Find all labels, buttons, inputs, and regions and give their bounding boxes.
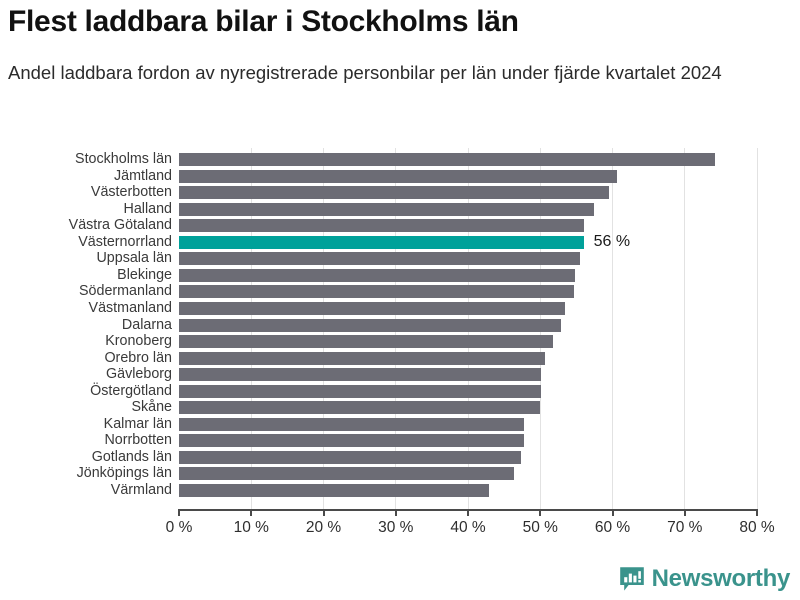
x-axis-tick — [539, 509, 541, 516]
x-axis-tick-label: 80 % — [739, 518, 774, 538]
newsworthy-bars-bubble-icon — [619, 566, 645, 592]
x-axis-tick-label: 70 % — [667, 518, 702, 538]
x-axis-tick-label: 30 % — [378, 518, 413, 538]
x-axis-tick — [684, 509, 686, 516]
x-axis-tick — [612, 509, 614, 516]
x-axis-tick — [250, 509, 252, 516]
x-axis-tick-label: 10 % — [234, 518, 269, 538]
newsworthy-logo-text: Newsworthy — [652, 566, 790, 592]
x-axis-tick-label: 40 % — [450, 518, 485, 538]
plot-area: Stockholms länJämtlandVästerbottenHallan… — [0, 0, 800, 600]
x-axis-tick-label: 50 % — [523, 518, 558, 538]
x-axis-tick-label: 0 % — [166, 518, 193, 538]
x-axis-tick — [178, 509, 180, 516]
x-axis-tick-label: 60 % — [595, 518, 630, 538]
chart-page: Flest laddbara bilar i Stockholms län An… — [0, 0, 800, 600]
x-axis-tick — [756, 509, 758, 516]
x-axis-tick-label: 20 % — [306, 518, 341, 538]
x-axis-tick — [467, 509, 469, 516]
x-axis-tick — [323, 509, 325, 516]
newsworthy-logo[interactable]: Newsworthy — [619, 566, 790, 592]
x-axis-tick — [395, 509, 397, 516]
x-axis: 0 %10 %20 %30 %40 %50 %60 %70 %80 % — [0, 0, 800, 600]
